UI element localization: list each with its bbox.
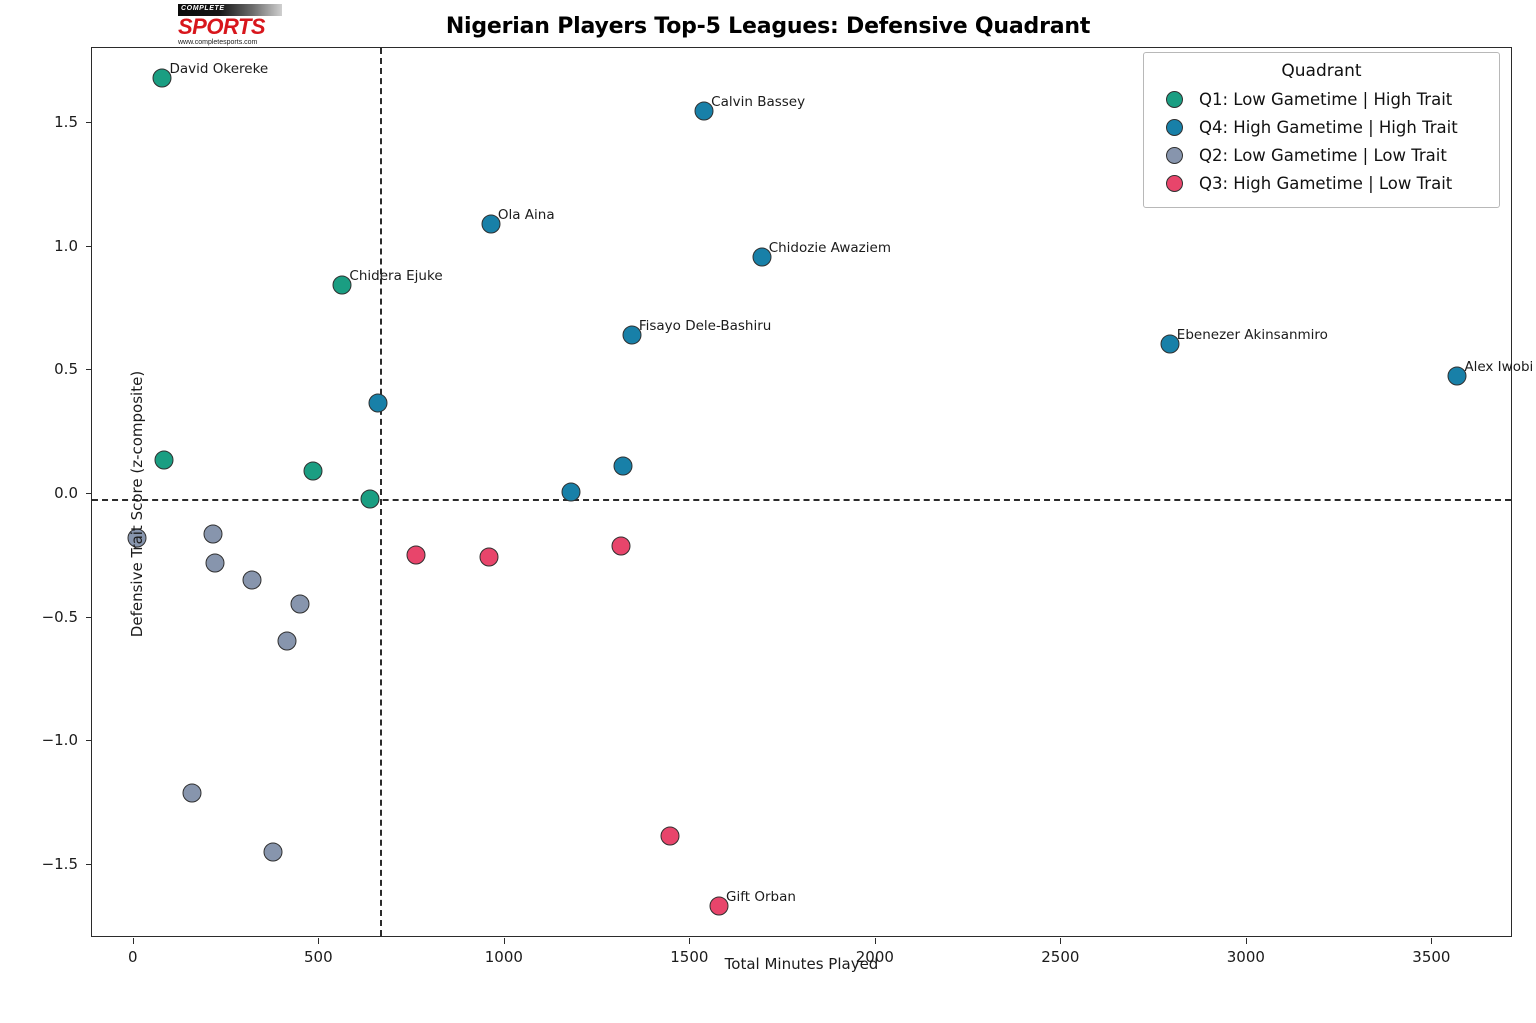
data-point[interactable]: [264, 842, 283, 861]
logo-top-text: COMPLETE: [181, 5, 225, 12]
data-point-label: Ola Aina: [498, 207, 555, 223]
data-point[interactable]: [361, 490, 380, 509]
legend-entries: Q1: Low Gametime | High TraitQ4: High Ga…: [1156, 85, 1487, 197]
legend-title: Quadrant: [1156, 61, 1487, 81]
data-point[interactable]: [304, 462, 323, 481]
legend-item-q1[interactable]: Q1: Low Gametime | High Trait: [1156, 85, 1487, 113]
legend-marker-icon: [1166, 91, 1183, 108]
data-point-label: Fisayo Dele-Bashiru: [639, 318, 772, 334]
data-point-label: Calvin Bassey: [711, 94, 805, 110]
data-point[interactable]: [277, 631, 296, 650]
y-tick-mark: [86, 617, 92, 618]
legend-item-q4[interactable]: Q4: High Gametime | High Trait: [1156, 113, 1487, 141]
data-point[interactable]: [242, 570, 261, 589]
y-tick-label: 0.5: [54, 360, 78, 378]
data-point[interactable]: [613, 456, 632, 475]
legend-marker-icon: [1166, 175, 1183, 192]
legend-item-label: Q4: High Gametime | High Trait: [1199, 118, 1458, 137]
data-point[interactable]: [290, 595, 309, 614]
x-axis-label: Total Minutes Played: [91, 955, 1512, 973]
data-point[interactable]: [661, 827, 680, 846]
y-tick-mark: [86, 369, 92, 370]
legend-marker-icon: [1166, 147, 1183, 164]
y-axis-label: Defensive Trait Score (z-composite): [128, 104, 146, 904]
y-tick-label: −1.5: [42, 855, 78, 873]
chart-title: Nigerian Players Top-5 Leagues: Defensiv…: [0, 14, 1536, 39]
legend-item-label: Q1: Low Gametime | High Trait: [1199, 90, 1452, 109]
data-point[interactable]: [155, 450, 174, 469]
median-trait-reference-line: [92, 499, 1511, 501]
y-tick-label: −0.5: [42, 608, 78, 626]
x-tick-mark: [318, 938, 319, 944]
data-point[interactable]: [611, 537, 630, 556]
data-point-label: Ebenezer Akinsanmiro: [1177, 327, 1328, 343]
logo-url-text: www.completesports.com: [178, 38, 288, 47]
data-point[interactable]: [479, 547, 498, 566]
data-point[interactable]: [183, 783, 202, 802]
y-tick-mark: [86, 740, 92, 741]
y-tick-mark: [86, 246, 92, 247]
x-tick-mark: [875, 938, 876, 944]
data-point[interactable]: [406, 545, 425, 564]
data-point-label: Gift Orban: [726, 889, 796, 905]
x-tick-mark: [504, 938, 505, 944]
data-point[interactable]: [203, 524, 222, 543]
legend-item-q3[interactable]: Q3: High Gametime | Low Trait: [1156, 169, 1487, 197]
legend-marker-icon: [1166, 119, 1183, 136]
data-point-label: Alex Iwobi: [1464, 359, 1533, 375]
median-gametime-reference-line: [380, 48, 382, 936]
x-tick-mark: [1060, 938, 1061, 944]
y-tick-label: 1.5: [54, 113, 78, 131]
x-tick-mark: [1246, 938, 1247, 944]
x-tick-mark: [689, 938, 690, 944]
x-tick-mark: [133, 938, 134, 944]
legend-item-q2[interactable]: Q2: Low Gametime | Low Trait: [1156, 141, 1487, 169]
legend-item-label: Q2: Low Gametime | Low Trait: [1199, 146, 1447, 165]
legend: Quadrant Q1: Low Gametime | High TraitQ4…: [1143, 52, 1500, 208]
y-tick-mark: [86, 864, 92, 865]
x-tick-mark: [1431, 938, 1432, 944]
data-point-label: Chidozie Awaziem: [769, 240, 891, 256]
y-tick-label: −1.0: [42, 731, 78, 749]
data-point[interactable]: [368, 393, 387, 412]
legend-item-label: Q3: High Gametime | Low Trait: [1199, 174, 1452, 193]
data-point[interactable]: [561, 482, 580, 501]
data-point-label: David Okereke: [169, 61, 268, 77]
y-tick-mark: [86, 493, 92, 494]
data-point[interactable]: [206, 553, 225, 572]
y-tick-label: 0.0: [54, 484, 78, 502]
y-tick-label: 1.0: [54, 237, 78, 255]
data-point-label: Chidera Ejuke: [349, 268, 442, 284]
y-tick-mark: [86, 122, 92, 123]
